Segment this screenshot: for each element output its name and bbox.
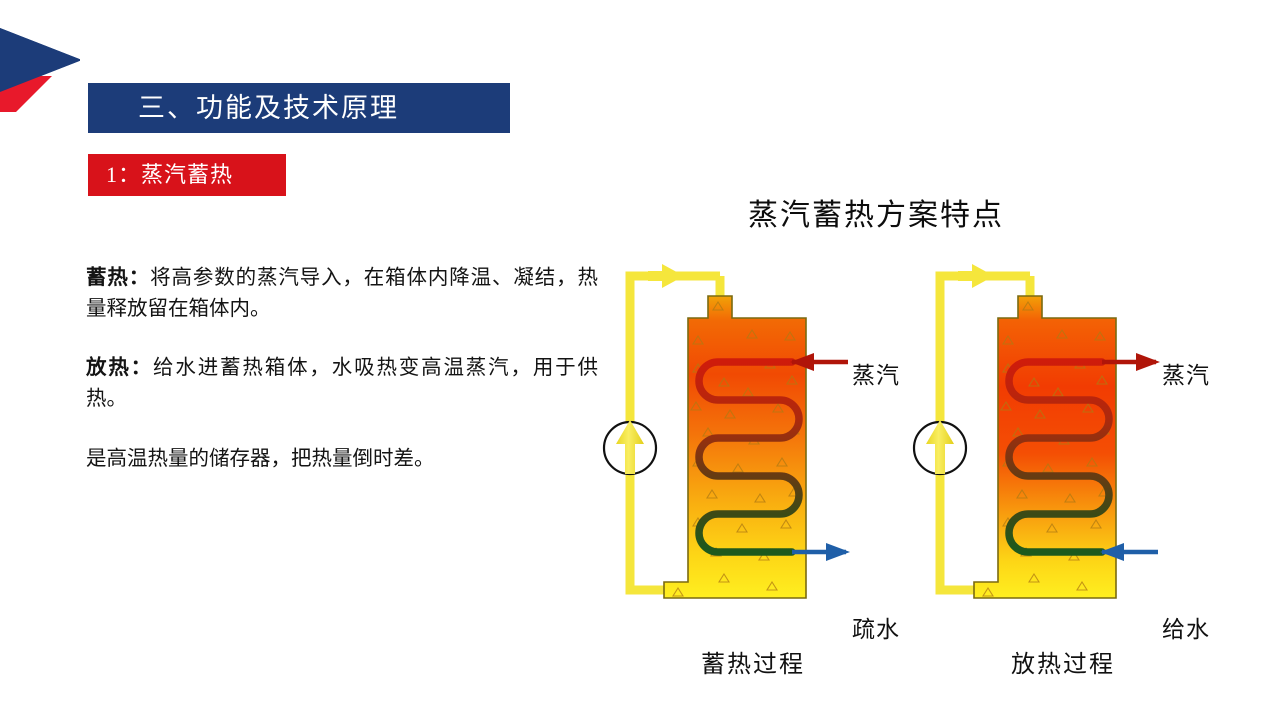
- pipe-flow-arrow-icon: [648, 264, 684, 288]
- logo-shapes: [0, 0, 80, 112]
- subsection-badge: 1：蒸汽蓄热: [88, 154, 286, 196]
- caption-charging: 蓄热过程: [648, 644, 858, 679]
- paragraph-storage-lead: 蓄热：: [86, 267, 150, 289]
- diagram-title: 蒸汽蓄热方案特点: [596, 190, 1156, 234]
- diagram-region: 蒸汽蓄热方案特点: [596, 190, 1280, 670]
- paragraph-storage: 蓄热：将高参数的蒸汽导入，在箱体内降温、凝结，热量释放留在箱体内。: [86, 263, 598, 325]
- paragraph-summary-text: 是高温热量的储存器，把热量倒时差。: [86, 448, 435, 470]
- paragraph-summary: 是高温热量的储存器，把热量倒时差。: [86, 444, 598, 475]
- paragraph-release: 放热：给水进蓄热箱体，水吸热变高温蒸汽，用于供热。: [86, 353, 598, 415]
- drain-label-charging: 疏水: [852, 610, 900, 644]
- tank-schematic-discharging: [912, 252, 1230, 652]
- subsection-badge-label: 1：蒸汽蓄热: [88, 164, 233, 186]
- paragraph-release-text: 给水进蓄热箱体，水吸热变高温蒸汽，用于供热。: [86, 357, 598, 410]
- paragraph-release-lead: 放热：: [86, 357, 153, 379]
- tank-unit-discharging: 蒸汽 给水 放热过程: [912, 252, 1230, 672]
- body-copy: 蓄热：将高参数的蒸汽导入，在箱体内降温、凝结，热量释放留在箱体内。 放热：给水进…: [86, 263, 598, 475]
- section-banner: 三、功能及技术原理: [88, 83, 510, 133]
- tank-schematic-charging: [602, 252, 920, 652]
- tank-unit-charging: 蒸汽 疏水 蓄热过程: [602, 252, 920, 672]
- steam-label-charging: 蒸汽: [852, 356, 900, 390]
- slide-canvas: 三、功能及技术原理 1：蒸汽蓄热 蓄热：将高参数的蒸汽导入，在箱体内降温、凝结，…: [0, 0, 1280, 720]
- feedwater-label-discharging: 给水: [1162, 610, 1210, 644]
- pump-icon: [914, 420, 966, 474]
- steam-label-discharging: 蒸汽: [1162, 356, 1210, 390]
- paragraph-storage-text: 将高参数的蒸汽导入，在箱体内降温、凝结，热量释放留在箱体内。: [86, 267, 598, 320]
- corner-decoration: [0, 0, 80, 112]
- pump-icon: [604, 420, 656, 474]
- section-banner-label: 三、功能及技术原理: [88, 95, 399, 122]
- pipe-flow-arrow-icon: [958, 264, 994, 288]
- caption-discharging: 放热过程: [958, 644, 1168, 679]
- tank-diagrams: 蒸汽 疏水 蓄热过程: [596, 252, 1280, 672]
